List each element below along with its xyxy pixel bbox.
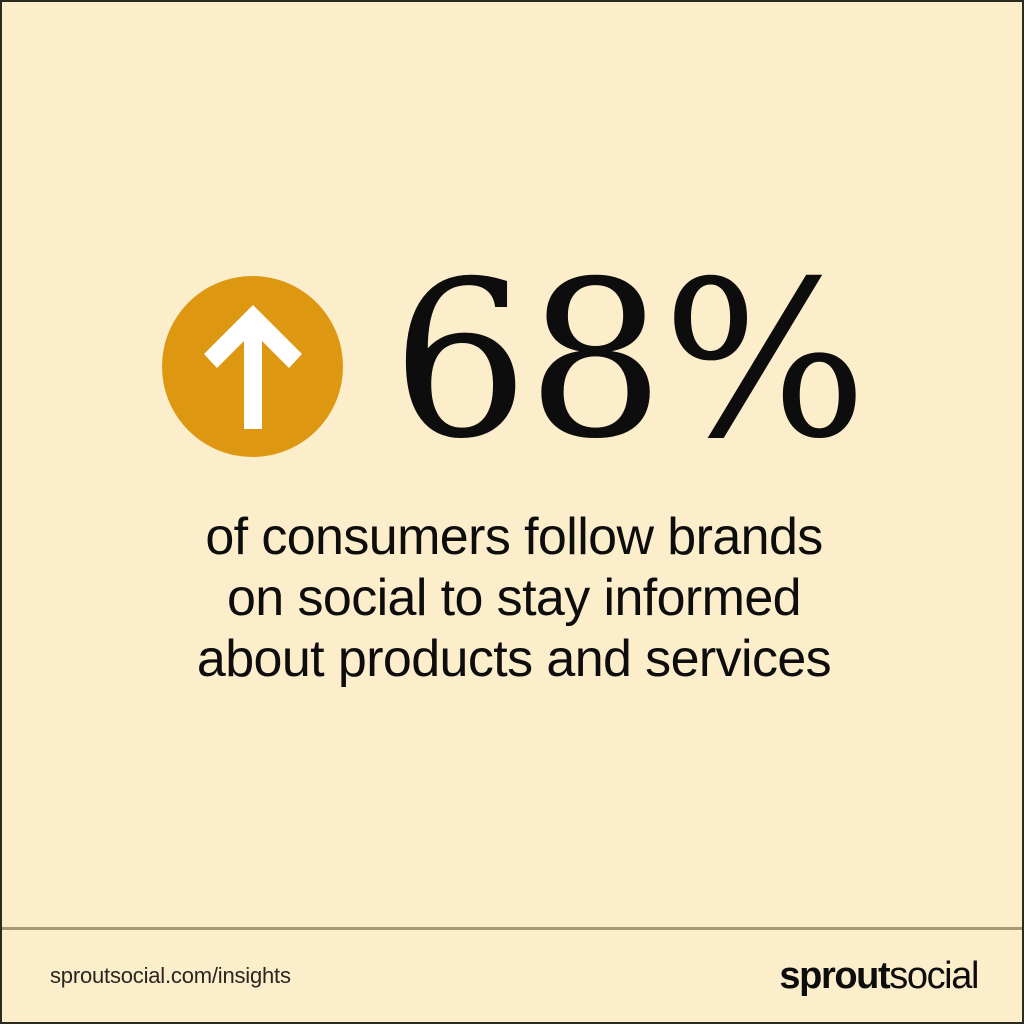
stat-row: 68% — [2, 274, 1024, 460]
stat-value: 68% — [391, 268, 865, 454]
caption: of consumers follow brands on social to … — [2, 507, 1024, 689]
stat-badge — [162, 276, 343, 457]
stat-card: 68% of consumers follow brands on social… — [0, 0, 1024, 1024]
logo-word-social: social — [889, 955, 978, 998]
arrow-up-icon — [201, 303, 305, 431]
footer-url[interactable]: sproutsocial.com/insights — [50, 963, 291, 989]
footer: sproutsocial.com/insights sproutsocial — [2, 930, 1024, 1022]
caption-line-3: about products and services — [2, 629, 1024, 690]
caption-line-2: on social to stay informed — [2, 568, 1024, 629]
caption-line-1: of consumers follow brands — [2, 507, 1024, 568]
stat-area: 68% of consumers follow brands on social… — [2, 2, 1024, 927]
sprout-social-logo[interactable]: sproutsocial — [779, 955, 978, 998]
logo-word-sprout: sprout — [779, 955, 889, 998]
